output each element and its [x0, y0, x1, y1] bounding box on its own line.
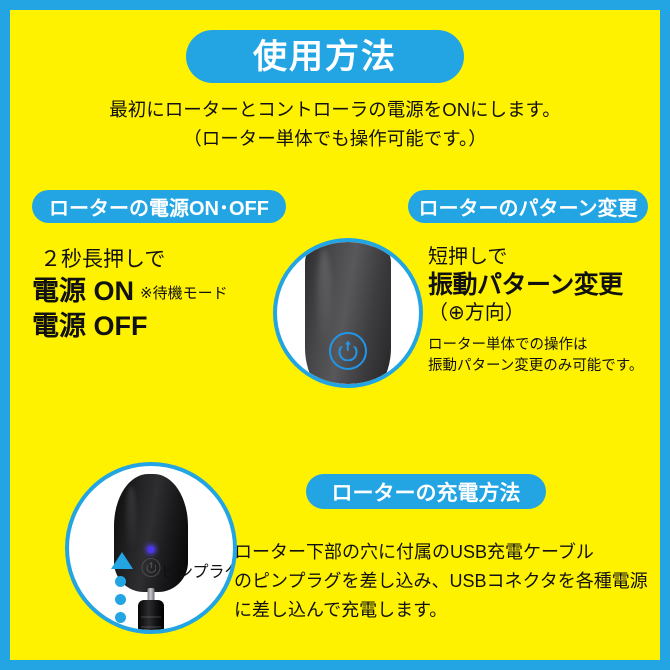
plug-segment — [141, 626, 162, 628]
lead-paragraph: 最初にローターとコントローラの電源をONにします。 （ローター単体でも操作可能で… — [10, 96, 660, 153]
power-on-label: 電源 ON — [32, 276, 134, 306]
section-badge-charge: ローターの充電方法 — [306, 474, 546, 509]
power-icon — [329, 332, 367, 370]
arrow-trail-dot — [115, 576, 126, 587]
power-icon-dark — [142, 558, 161, 577]
pattern-note: ローター単体での操作は 振動パターン変更のみ可能です。 — [428, 335, 660, 377]
page-content: 使用方法 最初にローターとコントローラの電源をONにします。 （ローター単体でも… — [10, 10, 660, 660]
rotor-power-button-photo — [273, 238, 423, 388]
up-arrow-icon — [111, 552, 133, 569]
arrow-trail-dot — [115, 612, 126, 623]
lead-line-1: 最初にローターとコントローラの電源をONにします。 — [10, 96, 660, 125]
pattern-direction-label: （⊕方向） — [428, 300, 660, 327]
charge-line-3: に差し込んで充電します。 — [234, 596, 660, 625]
rotor-charging-photo: ピンプラグ — [65, 462, 237, 634]
charge-instructions: ローター下部の穴に付属のUSB充電ケーブル のピンプラグを差し込み、USBコネク… — [234, 538, 660, 625]
standby-mode-note: ※待機モード — [140, 285, 228, 302]
rotor-device-body — [305, 238, 391, 388]
power-icon-dark-bar — [150, 562, 151, 568]
power-off-label: 電源 OFF — [32, 309, 282, 344]
pattern-note-line-2: 振動パターン変更のみ可能です。 — [428, 356, 660, 377]
pin-plug-body — [138, 600, 164, 634]
plug-segment — [141, 616, 162, 618]
arrow-trail-dot — [115, 594, 126, 605]
page-frame: 使用方法 最初にローターとコントローラの電源をONにします。 （ローター単体でも… — [0, 0, 670, 670]
page-title: 使用方法 — [253, 40, 397, 74]
section-badge-pattern: ローターのパターン変更 — [408, 190, 648, 223]
pattern-note-line-1: ローター単体での操作は — [428, 335, 660, 356]
pattern-instructions: 短押しで 振動パターン変更 （⊕方向） ローター単体での操作は 振動パターン変更… — [428, 244, 660, 377]
arrow-trail-dot — [115, 630, 126, 634]
pin-plug-callout-label: ピンプラグ — [161, 558, 237, 582]
power-line-normal: ２秒長押しで — [32, 246, 282, 274]
section-badge-power: ローターの電源ON･OFF — [32, 190, 286, 223]
charge-line-2: のピンプラグを差し込み、USBコネクタを各種電源 — [234, 567, 660, 596]
pattern-line-normal: 短押しで — [428, 244, 660, 270]
photo-inner-power — [277, 242, 419, 384]
lead-line-2: （ローター単体でも操作可能です。） — [10, 125, 660, 154]
page-title-pill: 使用方法 — [186, 30, 464, 83]
charge-line-1: ローター下部の穴に付属のUSB充電ケーブル — [234, 538, 660, 567]
photo-inner-charge: ピンプラグ — [69, 466, 233, 630]
led-indicator-icon — [148, 546, 155, 553]
power-instructions: ２秒長押しで 電源 ON※待機モード 電源 OFF — [32, 246, 282, 345]
power-on-line: 電源 ON※待機モード — [32, 274, 282, 309]
pattern-change-label: 振動パターン変更 — [428, 270, 660, 300]
